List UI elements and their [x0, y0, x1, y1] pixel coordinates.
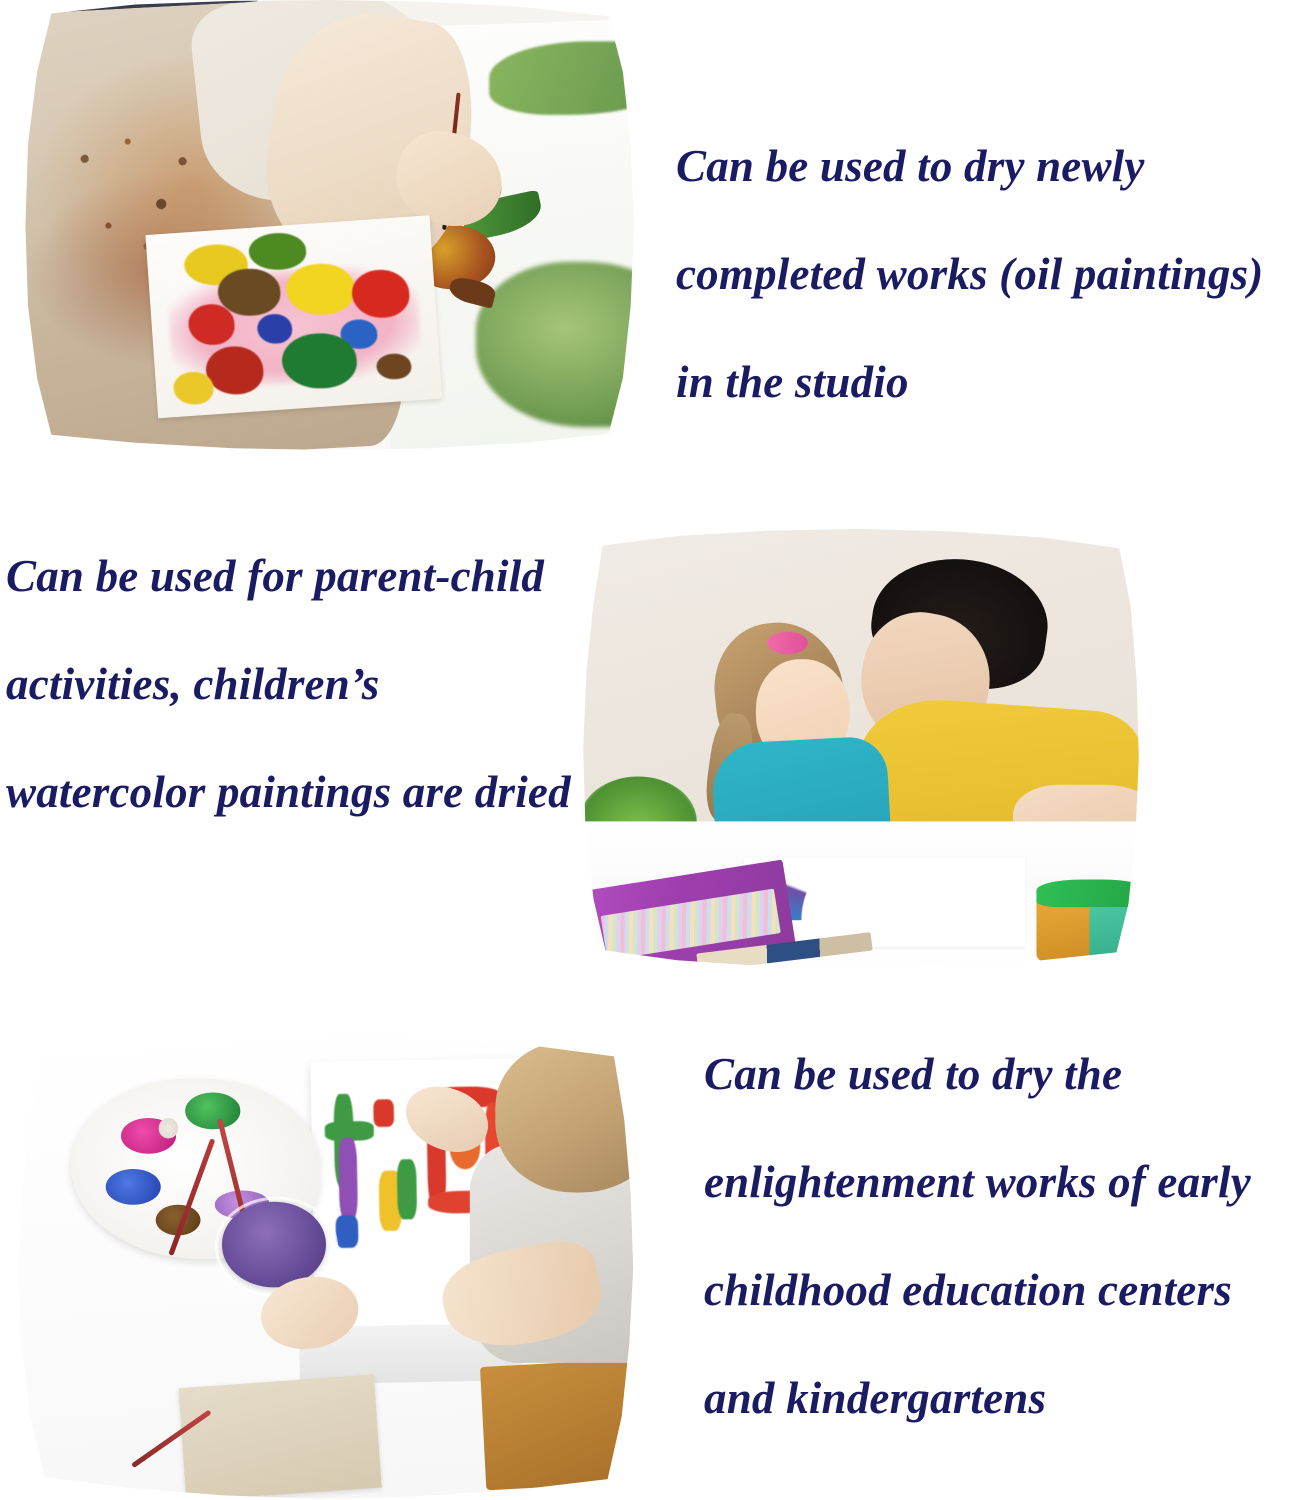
kids-cardboard-sheet [179, 1375, 382, 1500]
kids-wooden-chair [480, 1359, 643, 1490]
photo-kids [6, 1036, 646, 1500]
kids-mark-green-3 [397, 1159, 418, 1220]
kids-mark-red-dot [373, 1099, 393, 1127]
caption-studio: Can be used to dry newly completed works… [676, 112, 1288, 436]
kids-child-hair [496, 1041, 646, 1192]
kids-mark-purple [339, 1138, 358, 1221]
palette-well-green [185, 1093, 240, 1129]
palette-blob-green-1 [248, 231, 307, 272]
kids-mark-blue [335, 1215, 358, 1248]
caption-kindergarten: Can be used to dry the enlightenment wor… [704, 1020, 1290, 1452]
collage-stage: Can be used to dry newly completed works… [0, 0, 1297, 1500]
palette-thumb-hole [158, 1118, 178, 1138]
caption-parent-child: Can be used for parent-child activities,… [6, 522, 572, 846]
palette-blob-yellow-3 [172, 370, 214, 406]
photo-family [574, 528, 1148, 970]
family-paint-pot-lid [1037, 880, 1148, 907]
studio-paint-palette [145, 215, 441, 418]
family-paint-pot-orange [1037, 898, 1096, 961]
palette-well-blue [106, 1169, 161, 1205]
photo-studio [6, 0, 654, 450]
family-paint-pot-teal [1089, 898, 1148, 961]
